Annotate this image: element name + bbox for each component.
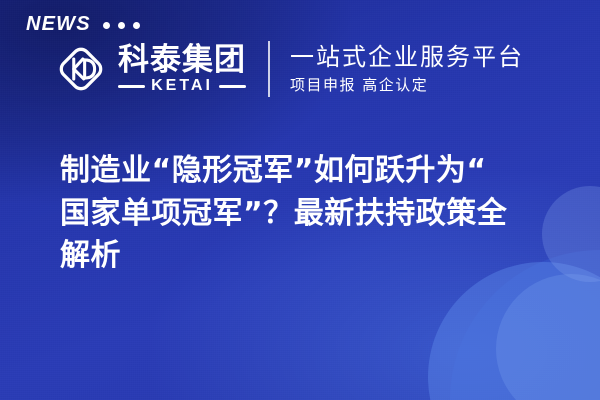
ketai-diamond-monogram-icon — [52, 40, 110, 98]
brand-name-en: KETAI — [151, 78, 213, 94]
eyebrow-dots — [103, 22, 140, 29]
brand-rule-right — [219, 85, 246, 88]
dot-icon — [133, 22, 140, 29]
brand-divider — [268, 41, 270, 97]
dot-icon — [118, 22, 125, 29]
eyebrow-label: NEWS — [26, 14, 91, 34]
headline: 制造业“隐形冠军”如何跃升为“ 国家单项冠军”？最新扶持政策全 解析 — [60, 150, 566, 278]
tagline-main: 一站式企业服务平台 — [290, 42, 524, 72]
brand-name-cn: 科泰集团 — [118, 44, 246, 77]
tagline-block: 一站式企业服务平台 项目申报 高企认定 — [290, 42, 524, 96]
news-poster: NEWS 科泰集团 — [0, 0, 600, 400]
eyebrow: NEWS — [26, 14, 140, 34]
headline-line-1: 制造业“隐形冠军”如何跃升为“ — [60, 150, 566, 193]
headline-line-2: 国家单项冠军”？最新扶持政策全 — [60, 193, 566, 236]
dot-icon — [103, 22, 110, 29]
tagline-sub: 项目申报 高企认定 — [290, 75, 524, 96]
brand-name-en-row: KETAI — [118, 78, 246, 94]
headline-line-3: 解析 — [60, 235, 566, 278]
brand-name-block: 科泰集团 KETAI — [118, 44, 246, 95]
brand-lockup: 科泰集团 KETAI 一站式企业服务平台 项目申报 高企认定 — [52, 40, 524, 98]
brand-rule-left — [118, 85, 145, 88]
